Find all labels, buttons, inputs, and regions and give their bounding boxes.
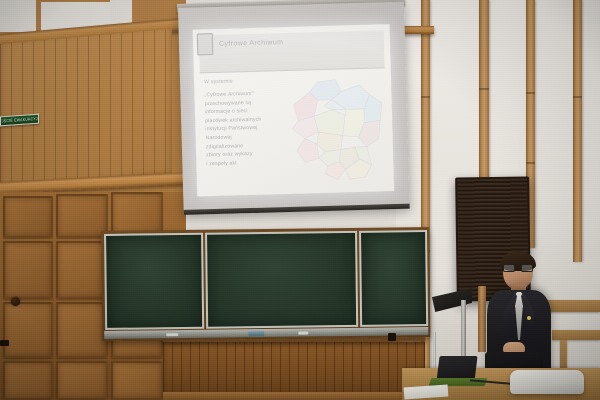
projection-screen: Cyfrowe Archiwum W systemie „Cyfrowe Arc… xyxy=(178,2,410,215)
poland-voivodeships-map xyxy=(283,68,390,189)
projector xyxy=(510,370,584,394)
chalk-stick[interactable] xyxy=(166,333,178,336)
wall-panel-4 xyxy=(3,241,53,299)
board-eraser[interactable] xyxy=(248,331,264,336)
presenter-lapel-pin xyxy=(527,316,531,320)
wall-panel-10 xyxy=(3,361,53,400)
map-region-dolnoslaskie xyxy=(297,138,320,163)
wall-recess-panel-a xyxy=(0,0,36,32)
evacuation-sign-label: WYJŚCIE EWAKUACYJNE xyxy=(0,116,39,124)
blackboard-panel-right[interactable] xyxy=(359,230,428,327)
wainscot-bottom-rail xyxy=(163,392,425,400)
slide-logo-icon xyxy=(197,33,214,55)
door-keyhole-plate xyxy=(0,340,9,346)
slide-subheading: W systemie xyxy=(204,78,233,85)
wall-panel-12 xyxy=(111,361,163,400)
map-region-lubuskie xyxy=(292,116,319,139)
wall-panel-11 xyxy=(56,361,108,400)
board-side-bracket xyxy=(388,333,396,341)
door-knob[interactable] xyxy=(11,297,20,306)
wall-panel-5 xyxy=(56,241,108,299)
blackboard-panel-left[interactable] xyxy=(104,233,204,330)
slide-bullet: i zespoły akt xyxy=(206,158,292,169)
wall-pilaster-4 xyxy=(573,0,582,262)
wall-panel-1 xyxy=(3,196,53,238)
slide-bullet-list: „Cyfrowe Archiwum” przechowywane są info… xyxy=(204,89,292,169)
glasses-icon xyxy=(503,264,533,272)
wall-pilaster-2 xyxy=(479,0,489,182)
wall-panel-7 xyxy=(3,302,53,358)
wood-slats-upper-left xyxy=(0,28,172,192)
chalk-stick[interactable] xyxy=(298,331,308,334)
lecture-hall-photo: WYJŚCIE EWAKUACYJNE Cyfrowe Archiwum W s… xyxy=(0,0,600,400)
wall-panel-8 xyxy=(56,302,108,358)
blackboard-panel-center[interactable] xyxy=(205,231,358,329)
blackboard xyxy=(101,227,430,341)
projected-slide: Cyfrowe Archiwum W systemie „Cyfrowe Arc… xyxy=(193,24,395,196)
